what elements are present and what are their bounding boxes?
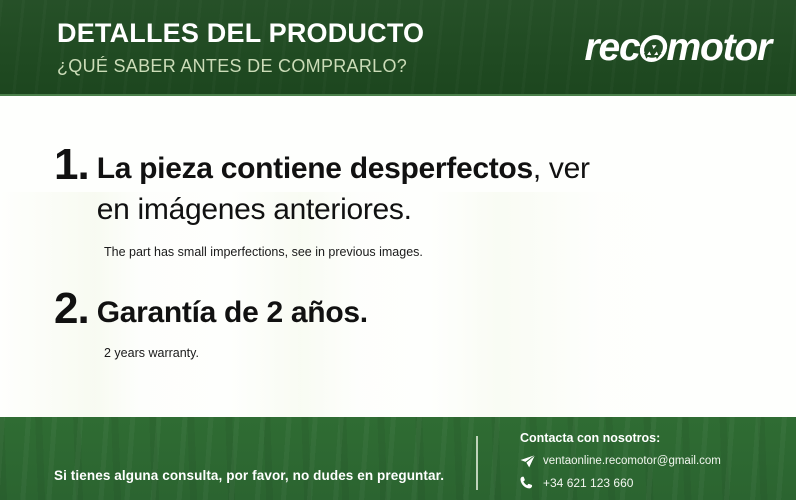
phone-icon xyxy=(520,476,537,490)
logo-text-before: rec xyxy=(585,28,640,67)
main-content: 1. La pieza contiene desperfectos, ver e… xyxy=(0,96,796,417)
list-item-heading: 2. Garantía de 2 años. xyxy=(54,288,368,333)
list-item-title-bold: La pieza contiene desperfectos xyxy=(97,152,533,185)
recomotor-logo: rec motor xyxy=(585,28,771,67)
list-item-heading: 1. La pieza contiene desperfectos, ver e… xyxy=(54,144,625,230)
list-item: 2. Garantía de 2 años. 2 years warranty. xyxy=(54,288,368,361)
recycle-o-icon xyxy=(637,35,668,62)
logo-text-after: motor xyxy=(667,28,772,67)
contact-email: ventaonline.recomotor@gmail.com xyxy=(543,456,721,468)
header-banner: DETALLES DEL PRODUCTO ¿QUÉ SABER ANTES D… xyxy=(0,0,796,96)
product-details-slide: DETALLES DEL PRODUCTO ¿QUÉ SABER ANTES D… xyxy=(0,0,796,500)
list-item-title-bold: Garantía de 2 años. xyxy=(97,296,368,329)
contact-email-row[interactable]: ventaonline.recomotor@gmail.com xyxy=(520,455,721,469)
list-item-title: Garantía de 2 años. xyxy=(97,288,368,333)
contact-phone-row[interactable]: +34 621 123 660 xyxy=(520,476,721,490)
footer-banner: Si tienes alguna consulta, por favor, no… xyxy=(0,417,796,500)
page-subtitle: ¿QUÉ SABER ANTES DE COMPRARLO? xyxy=(57,57,407,75)
list-item-number: 2. xyxy=(54,288,97,330)
page-title: DETALLES DEL PRODUCTO xyxy=(57,20,424,47)
list-item-number: 1. xyxy=(54,144,97,186)
list-item-title: La pieza contiene desperfectos, ver en i… xyxy=(97,144,625,230)
contact-heading: Contacta con nosotros: xyxy=(520,432,721,445)
footer-divider xyxy=(476,436,478,490)
list-item: 1. La pieza contiene desperfectos, ver e… xyxy=(54,144,625,260)
paper-plane-icon xyxy=(520,455,537,469)
list-item-translation: 2 years warranty. xyxy=(104,346,368,361)
list-item-translation: The part has small imperfections, see in… xyxy=(104,245,625,260)
footer-question-note: Si tienes alguna consulta, por favor, no… xyxy=(54,469,444,483)
contact-phone: +34 621 123 660 xyxy=(543,477,633,489)
contact-block: Contacta con nosotros: ventaonline.recom… xyxy=(520,432,721,497)
